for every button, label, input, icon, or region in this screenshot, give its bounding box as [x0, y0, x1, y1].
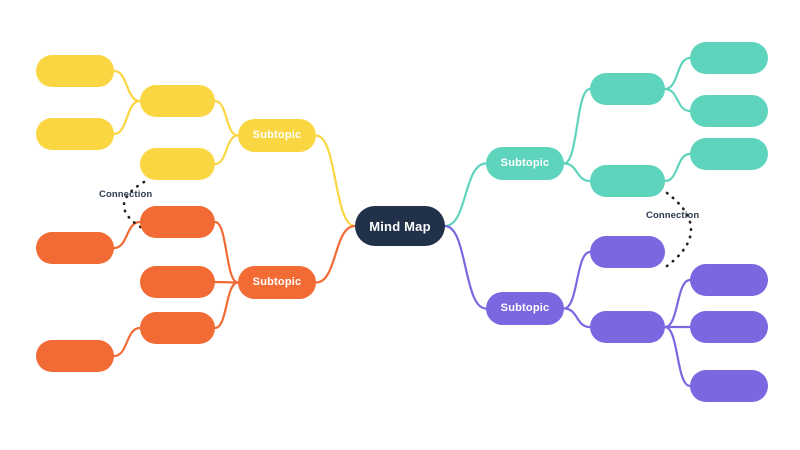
branch-edge — [316, 226, 355, 283]
branch-edge — [665, 280, 690, 327]
purple-mid-2[interactable] — [590, 311, 665, 343]
orange-leaf-2[interactable] — [36, 340, 114, 372]
branch-edge — [114, 101, 140, 134]
purple-mid-1[interactable] — [590, 236, 665, 268]
orange-branch-subtopic-label: Subtopic — [253, 277, 302, 288]
purple-leaf-2[interactable] — [690, 311, 768, 343]
branch-edge — [114, 71, 140, 101]
branch-edge — [316, 136, 355, 227]
teal-mid-2[interactable] — [590, 165, 665, 197]
yellow-mid-1[interactable] — [140, 85, 215, 117]
orange-mid-1[interactable] — [140, 206, 215, 238]
teal-branch-subtopic[interactable]: Subtopic — [486, 147, 564, 180]
mindmap-canvas: Mind Map SubtopicSubtopicSubtopicSubtopi… — [0, 0, 800, 450]
orange-mid-3[interactable] — [140, 312, 215, 344]
branch-edge — [114, 222, 140, 248]
purple-leaf-1[interactable] — [690, 264, 768, 296]
yellow-mid-2[interactable] — [140, 148, 215, 180]
branch-edge — [665, 89, 690, 111]
teal-leaf-1[interactable] — [690, 42, 768, 74]
purple-branch-subtopic[interactable]: Subtopic — [486, 292, 564, 325]
branch-edge — [445, 226, 486, 309]
purple-leaf-3[interactable] — [690, 370, 768, 402]
connection-edge — [667, 193, 691, 266]
orange-mid-2[interactable] — [140, 266, 215, 298]
branch-edge — [564, 309, 590, 328]
branch-edge — [665, 58, 690, 89]
connection-right-label: Connection — [646, 210, 699, 221]
branch-edge — [564, 252, 590, 309]
root-node-label: Mind Map — [369, 220, 431, 233]
purple-branch-subtopic-label: Subtopic — [501, 303, 550, 314]
connection-left-label: Connection — [99, 189, 152, 200]
branch-edge — [564, 89, 590, 164]
branch-edge — [215, 282, 238, 283]
orange-branch-subtopic[interactable]: Subtopic — [238, 266, 316, 299]
branch-edge — [215, 136, 238, 165]
root-node[interactable]: Mind Map — [355, 206, 445, 246]
teal-branch-subtopic-label: Subtopic — [501, 158, 550, 169]
yellow-branch-subtopic-label: Subtopic — [253, 130, 302, 141]
branch-edge — [215, 101, 238, 136]
teal-leaf-2[interactable] — [690, 95, 768, 127]
teal-leaf-3[interactable] — [690, 138, 768, 170]
branch-edge — [215, 283, 238, 329]
teal-mid-1[interactable] — [590, 73, 665, 105]
yellow-leaf-1[interactable] — [36, 55, 114, 87]
yellow-branch-subtopic[interactable]: Subtopic — [238, 119, 316, 152]
branch-edge — [215, 222, 238, 283]
yellow-leaf-2[interactable] — [36, 118, 114, 150]
orange-leaf-1[interactable] — [36, 232, 114, 264]
branch-edge — [445, 164, 486, 227]
branch-edge — [114, 328, 140, 356]
branch-edge — [665, 154, 690, 181]
branch-edge — [564, 164, 590, 182]
branch-edge — [665, 327, 690, 386]
